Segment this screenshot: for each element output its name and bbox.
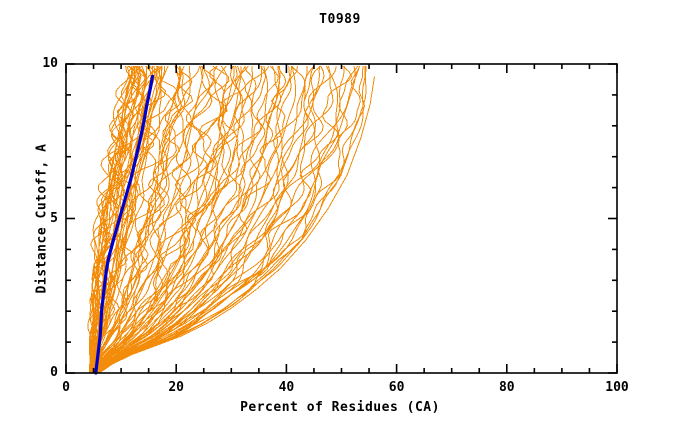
x-tick-label: 80 — [487, 380, 527, 395]
x-tick-label: 0 — [46, 380, 86, 395]
chart-figure: T0989 Percent of Residues (CA) Distance … — [0, 0, 680, 440]
curves-layer — [88, 66, 375, 373]
x-tick-label: 60 — [377, 380, 417, 395]
y-tick-label: 0 — [28, 365, 58, 380]
x-tick-label: 20 — [156, 380, 196, 395]
y-tick-label: 10 — [28, 56, 58, 71]
x-tick-label: 100 — [597, 380, 637, 395]
x-tick-label: 40 — [266, 380, 306, 395]
x-axis-label: Percent of Residues (CA) — [0, 400, 680, 415]
plot-canvas — [0, 0, 680, 440]
y-tick-label: 5 — [28, 211, 58, 226]
